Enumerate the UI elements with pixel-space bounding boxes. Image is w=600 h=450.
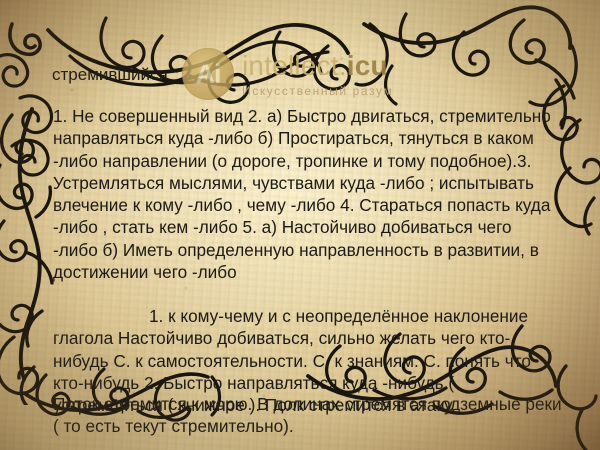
slide-canvas: Ai intellect.icu Искусственный разум стр…	[0, 0, 600, 450]
slide-text-content: стремившийся 1. Не совершенный вид 2. а)…	[0, 0, 600, 450]
entry-headword: стремившийся	[52, 66, 168, 83]
definition-list-paragraph: 1. Не совершенный вид 2. а) Быстро двига…	[53, 105, 553, 283]
examples-paragraph: Поток стремится к морю. В долинах стремя…	[53, 393, 563, 438]
